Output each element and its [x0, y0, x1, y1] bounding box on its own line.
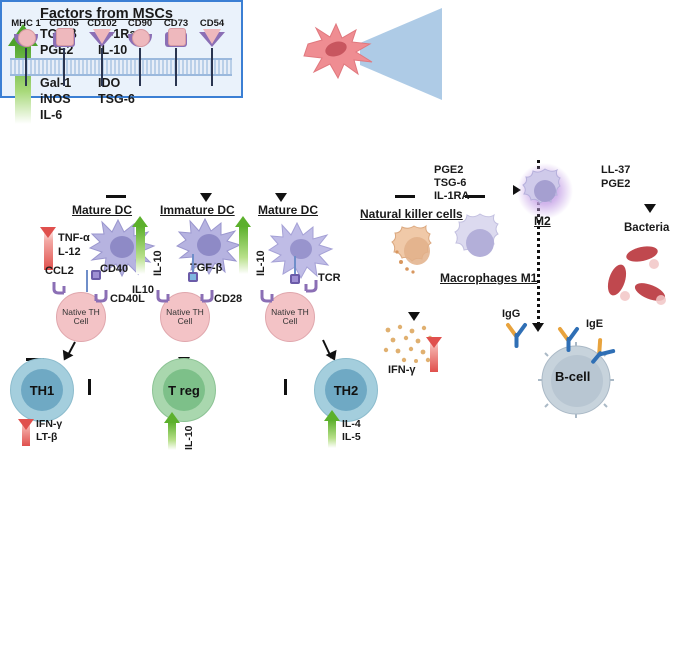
ifng-label-th1: IFN-γ [36, 419, 62, 431]
tsg6-label-m2: TSG-6 [434, 177, 466, 189]
il10-label-2: IL-10 [255, 250, 267, 276]
igg-antibody-icon [504, 322, 530, 353]
branch-macrophage [0, 533, 2, 573]
branch-nk [0, 493, 2, 533]
branch-mature-dc-3 [0, 455, 2, 493]
il10-ligand-label: IL10 [132, 284, 154, 296]
marker-label: MHC 1 [11, 18, 41, 29]
factor-item: iNOS [40, 91, 81, 107]
synapse-line-3 [294, 256, 296, 274]
treg-cell: T reg [152, 358, 216, 422]
branch-bacteria [0, 575, 2, 624]
marker-label: CD90 [128, 18, 152, 29]
marker-label: CD102 [87, 18, 117, 29]
cd40-label: CD40 [100, 263, 128, 275]
macrophage-m1-cell [448, 212, 512, 279]
lipid-bilayer-icon [10, 58, 232, 76]
inhibit-bar-nk [395, 195, 415, 198]
mhc-tcr-complex-icon-1 [89, 268, 103, 282]
native-th-cell-label: Native TH Cell [161, 308, 209, 326]
branch-mature-dc-1 [0, 377, 2, 417]
nk-output-arrow [0, 646, 2, 668]
th1-label: TH1 [11, 359, 73, 421]
arrowhead-nk-output [408, 312, 420, 321]
inhibit-line-treg-th2 [0, 644, 62, 646]
receptor-icon-left-1 [52, 280, 65, 293]
mhc-tcr-complex-icon-3 [288, 272, 302, 286]
ltb-label-th1: LT-β [36, 432, 57, 444]
factor-item: Gal-1 [40, 75, 81, 91]
factor-item: IL-6 [40, 107, 81, 123]
igg-label: IgG [502, 308, 520, 320]
synapse-line-2 [192, 254, 194, 272]
nk-cell [383, 224, 445, 289]
ccl2-label: CCL2 [45, 265, 74, 277]
receptor-icon-left-2 [156, 288, 169, 301]
tnfa-label: TNF-α [58, 232, 90, 244]
tcr-receptor-icon [302, 278, 315, 291]
cd28-label: CD28 [214, 293, 242, 305]
msc-cell [300, 22, 376, 82]
il4-label: IL-4 [342, 419, 361, 431]
il1ra-label-m2: IL-1RA [434, 190, 469, 202]
ige-antibody-icon-1 [556, 326, 582, 357]
cd28-receptor-icon [198, 288, 211, 301]
factor-item: TSG-6 [98, 91, 144, 107]
il12-label: L-12 [58, 246, 81, 258]
factor-item: IDO [98, 75, 144, 91]
th1-cell: TH1 [10, 358, 74, 422]
mhc-tcr-complex-icon-2 [186, 270, 200, 284]
arrow-to-treg [0, 624, 2, 642]
inhibit-bar-th2-end [284, 379, 287, 395]
il5-label: IL-5 [342, 432, 361, 444]
arrowhead-bcell [532, 323, 544, 332]
native-th-cell-label: Native TH Cell [57, 308, 105, 326]
arrowhead-bacteria [644, 204, 656, 213]
synapse-line-1 [86, 270, 88, 292]
il10-label-treg: IL-10 [184, 425, 196, 450]
ifng-label-nk: IFN-γ [388, 364, 416, 376]
inhibit-bar-th1-end [88, 379, 91, 395]
treg-label: T reg [153, 359, 215, 421]
arrow-to-m2 [0, 573, 38, 575]
inhibit-bar-mature-dc-1 [106, 195, 126, 198]
b-cell-label: B-cell [555, 370, 590, 385]
il10-label-1: IL-10 [152, 250, 164, 276]
cd40l-receptor-icon [92, 288, 105, 301]
branch-th1 [0, 174, 2, 377]
receptor-icon-left-3 [260, 288, 273, 301]
mature-dc-3-title: Mature DC [258, 204, 318, 217]
marker-label: CD54 [200, 18, 224, 29]
macrophage-m1-label: Macrophages M1 [440, 272, 537, 285]
tcr-label: TCR [318, 272, 341, 284]
bacteria-icon [600, 240, 678, 321]
bacteria-label: Bacteria [624, 222, 669, 235]
pge2-label-bacteria: PGE2 [601, 178, 630, 190]
msc-stem-line [0, 98, 2, 172]
arrowhead-mature-dc-3 [275, 193, 287, 202]
pge2-label-m2: PGE2 [434, 164, 463, 176]
ll37-label: LL-37 [601, 164, 630, 176]
native-th-cell-label: Native TH Cell [266, 308, 314, 326]
arrowhead-immature-dc [200, 193, 212, 202]
m2-label: M2 [534, 215, 551, 228]
branch-immature-dc [0, 417, 2, 455]
